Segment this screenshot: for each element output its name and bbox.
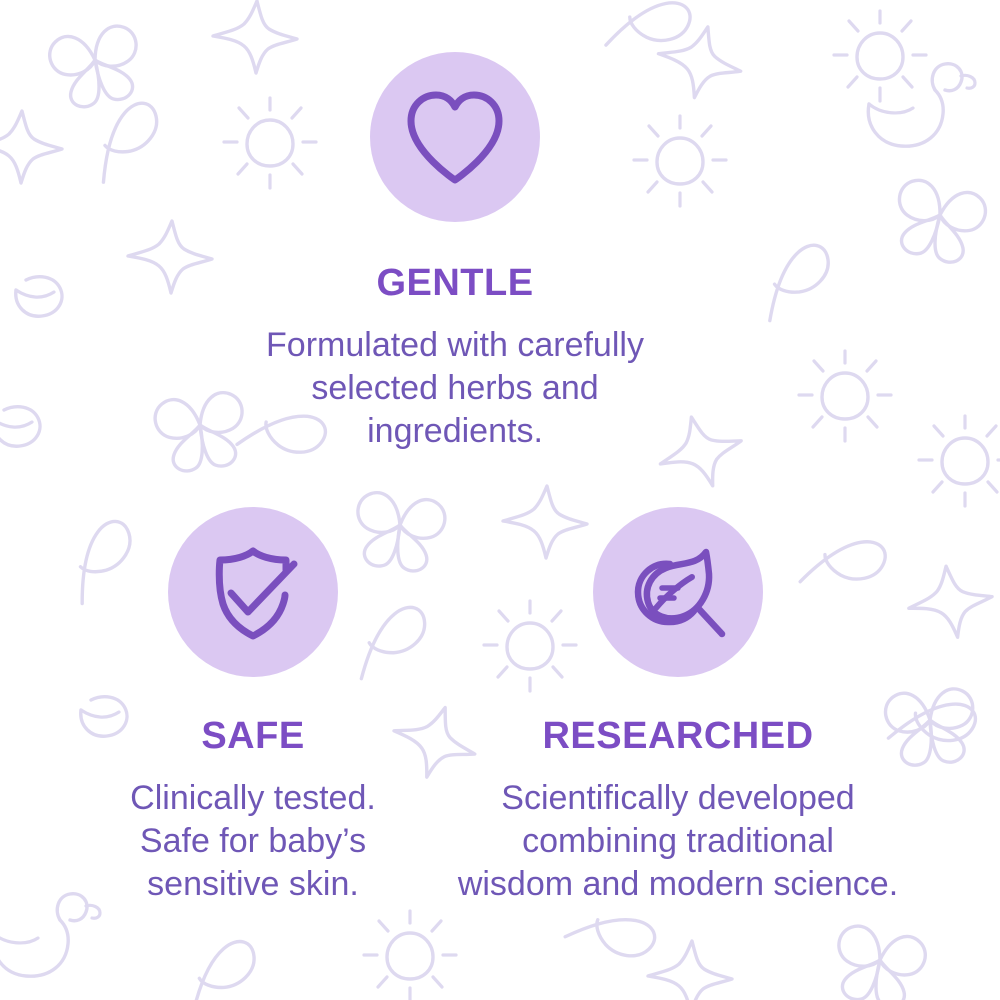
gentle-body-line-2: selected herbs and xyxy=(155,367,755,410)
benefits-infographic: GENTLE Formulated with carefully selecte… xyxy=(0,0,1000,1000)
feature-researched: RESEARCHED Scientifically developed comb… xyxy=(453,507,903,907)
safe-body-line-2: Safe for baby’s xyxy=(28,820,478,863)
researched-body: Scientifically developed combining tradi… xyxy=(453,777,903,907)
gentle-heading: GENTLE xyxy=(155,264,755,302)
feature-safe: SAFE Clinically tested. Safe for baby’s … xyxy=(28,507,478,907)
safe-body: Clinically tested. Safe for baby’s sensi… xyxy=(28,777,478,907)
shield-check-icon xyxy=(193,532,313,652)
researched-icon-badge xyxy=(593,507,763,677)
gentle-body-line-3: ingredients. xyxy=(155,410,755,453)
safe-body-line-1: Clinically tested. xyxy=(28,777,478,820)
safe-heading: SAFE xyxy=(28,717,478,755)
researched-body-line-3: wisdom and modern science. xyxy=(453,863,903,906)
leaf-magnifier-icon xyxy=(618,532,738,652)
heart-icon xyxy=(395,77,515,197)
features-container: GENTLE Formulated with carefully selecte… xyxy=(0,0,1000,1000)
researched-body-line-1: Scientifically developed xyxy=(453,777,903,820)
safe-icon-badge xyxy=(168,507,338,677)
researched-body-line-2: combining traditional xyxy=(453,820,903,863)
gentle-body: Formulated with carefully selected herbs… xyxy=(155,324,755,454)
researched-heading: RESEARCHED xyxy=(453,717,903,755)
gentle-body-line-1: Formulated with carefully xyxy=(155,324,755,367)
gentle-icon-badge xyxy=(370,52,540,222)
feature-gentle: GENTLE Formulated with carefully selecte… xyxy=(155,52,755,454)
safe-body-line-3: sensitive skin. xyxy=(28,863,478,906)
